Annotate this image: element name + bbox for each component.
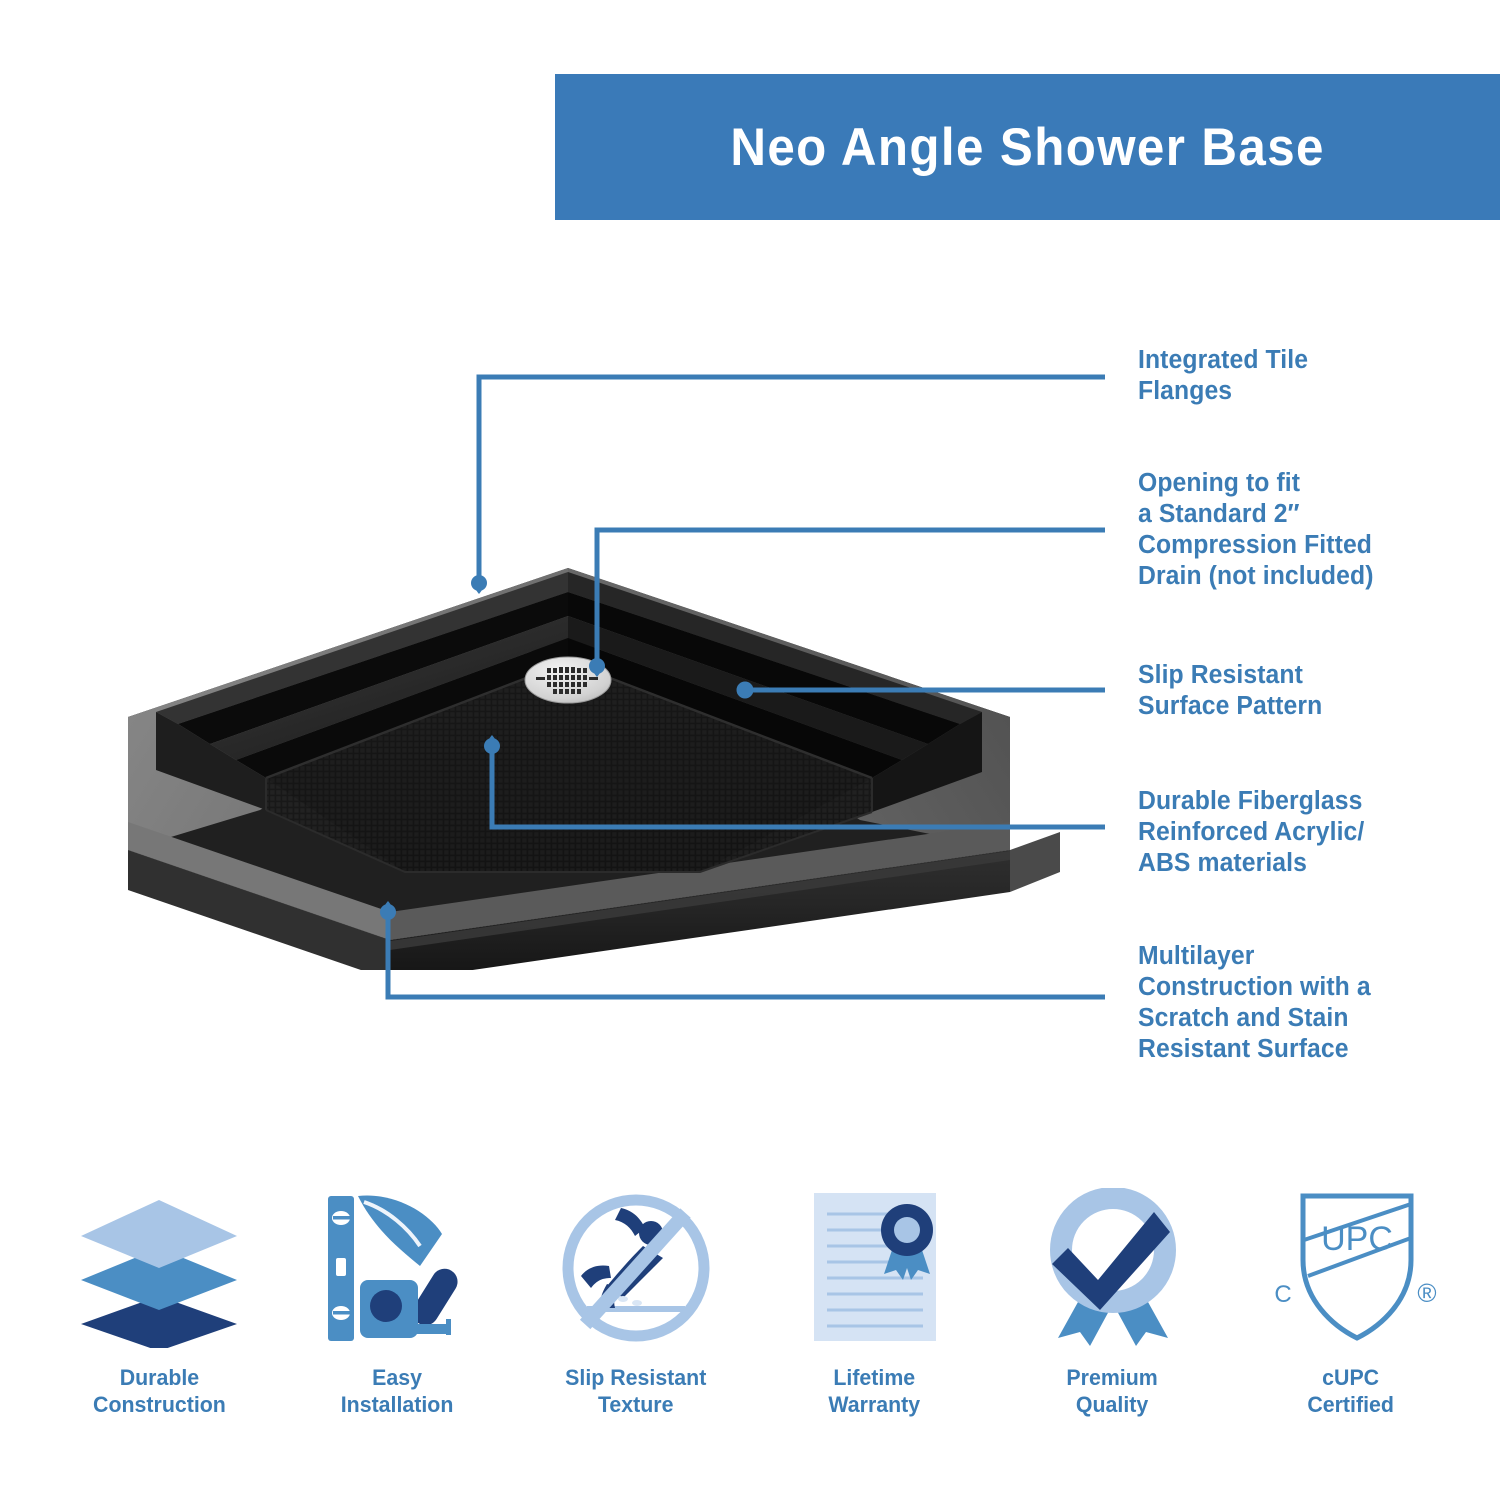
check-rosette-icon — [1028, 1185, 1198, 1350]
neo-angle-shower-base-illustration — [60, 520, 1080, 970]
callout-line: Flanges — [1138, 376, 1458, 407]
callout-line: a Standard 2″ — [1138, 499, 1458, 530]
header-banner: Neo Angle Shower Base — [555, 74, 1500, 220]
callout-line: Drain (not included) — [1138, 561, 1458, 592]
upc-shield-icon: UPC C ® — [1261, 1185, 1441, 1350]
layers-icon — [74, 1185, 244, 1350]
feature-durable-construction: Durable Construction — [40, 1185, 278, 1418]
feature-badges-row: Durable Construction — [40, 1185, 1470, 1455]
callout-line: Scratch and Stain — [1138, 1003, 1458, 1034]
callout-line: Resistant Surface — [1138, 1034, 1458, 1065]
feature-label: Easy Installation — [341, 1364, 454, 1418]
infographic-canvas: Neo Angle Shower Base — [0, 0, 1500, 1500]
drain-grate-icon — [525, 657, 611, 703]
upc-shield-right-text: ® — [1417, 1278, 1436, 1308]
callout-slip-resistant-surface: Slip Resistant Surface Pattern — [1138, 660, 1458, 722]
callout-line: Durable Fiberglass — [1138, 786, 1458, 817]
feature-cupc-certified: UPC C ® cUPC Certified — [1232, 1185, 1470, 1418]
feature-premium-quality: Premium Quality — [994, 1185, 1232, 1418]
callout-integrated-tile-flanges: Integrated Tile Flanges — [1138, 345, 1458, 407]
feature-lifetime-warranty: Lifetime Warranty — [755, 1185, 993, 1418]
page-title: Neo Angle Shower Base — [730, 121, 1324, 174]
feature-slip-resistant-texture: Slip Resistant Texture — [517, 1185, 755, 1418]
callout-line: Surface Pattern — [1138, 691, 1458, 722]
callout-line: Integrated Tile — [1138, 345, 1458, 376]
no-slip-icon — [551, 1185, 721, 1350]
feature-label: Slip Resistant Texture — [565, 1364, 706, 1418]
upc-shield-text: UPC — [1321, 1220, 1393, 1258]
callout-line: Reinforced Acrylic/ — [1138, 817, 1458, 848]
callout-line: Multilayer — [1138, 941, 1458, 972]
feature-label: Durable Construction — [93, 1364, 226, 1418]
upc-shield-left-text: C — [1274, 1281, 1291, 1308]
product-image — [60, 520, 1080, 970]
feature-label: Lifetime Warranty — [828, 1364, 920, 1418]
callout-line: Opening to fit — [1138, 468, 1458, 499]
feature-easy-installation: Easy Installation — [278, 1185, 516, 1418]
callout-line: Slip Resistant — [1138, 660, 1458, 691]
level-trowel-icon — [312, 1185, 482, 1350]
feature-label: Premium Quality — [1067, 1364, 1158, 1418]
certificate-icon — [789, 1185, 959, 1350]
callout-durable-materials: Durable Fiberglass Reinforced Acrylic/ A… — [1138, 786, 1458, 879]
callout-line: Compression Fitted — [1138, 530, 1458, 561]
feature-label: cUPC Certified — [1308, 1364, 1395, 1418]
callout-drain-opening: Opening to fit a Standard 2″ Compression… — [1138, 468, 1458, 592]
callout-line: ABS materials — [1138, 848, 1458, 879]
callout-line: Construction with a — [1138, 972, 1458, 1003]
callout-multilayer-construction: Multilayer Construction with a Scratch a… — [1138, 941, 1458, 1065]
